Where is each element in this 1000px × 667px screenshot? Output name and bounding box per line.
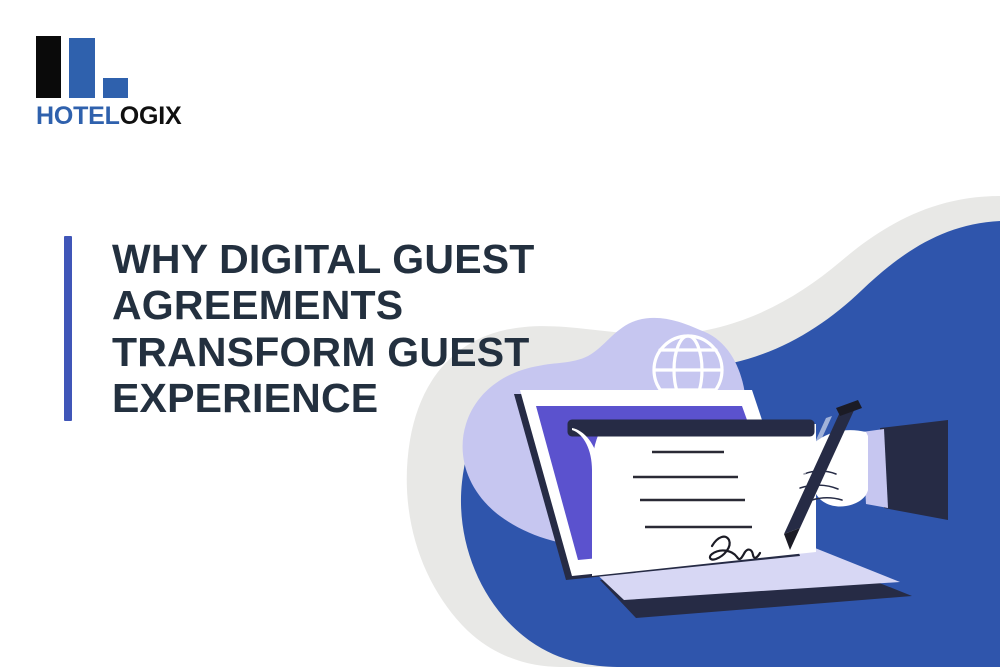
hand: [775, 430, 868, 506]
pen-body: [784, 406, 856, 534]
cuff-band: [862, 429, 888, 508]
laptop-screen-display: [536, 406, 790, 560]
laptop-screen-frame-edge: [514, 394, 800, 580]
signature: [710, 537, 760, 560]
logo-bar-blue-tall: [69, 38, 95, 98]
document-sheet: [592, 424, 816, 576]
laptop-base-top: [588, 542, 900, 600]
sleeve-cuff: [880, 420, 948, 520]
document-text-lines: [633, 452, 752, 527]
logo-word-ogix: OGIX: [120, 102, 182, 130]
finger-lines: [800, 471, 842, 500]
hotelogix-logo[interactable]: HOTELOGIX: [36, 36, 216, 129]
pen-tip: [784, 528, 800, 550]
document-curl: [572, 428, 600, 508]
logo-wordmark: HOTELOGIX: [36, 104, 216, 129]
globe-icon: [654, 336, 722, 404]
laptop-base-shadow: [600, 556, 912, 618]
logo-word-hotel: HOTEL: [36, 102, 120, 130]
page-title: WHY DIGITAL GUEST AGREEMENTS TRANSFORM G…: [72, 236, 582, 421]
pen-clip: [786, 416, 832, 506]
pen-top-cap: [836, 400, 862, 416]
logo-bar-blue-short: [103, 78, 128, 98]
bar-chart-logo-mark: [36, 36, 164, 98]
banner-canvas: HOTELOGIX WHY DIGITAL GUEST AGREEMENTS T…: [0, 0, 1000, 667]
logo-bar-black: [36, 36, 61, 98]
document-top-bar: [572, 424, 810, 432]
headline-accent-bar: [64, 236, 72, 421]
headline-block: WHY DIGITAL GUEST AGREEMENTS TRANSFORM G…: [64, 236, 582, 421]
